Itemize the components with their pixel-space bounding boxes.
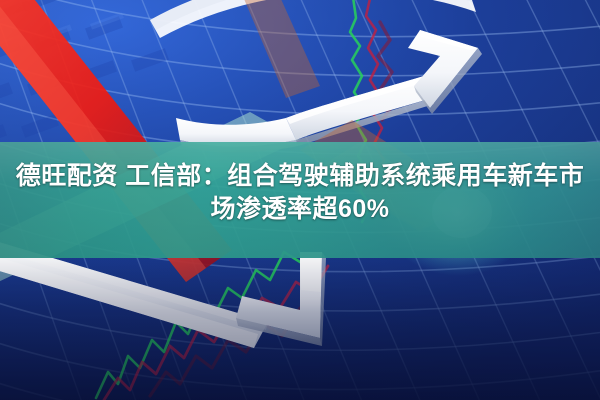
- news-banner: 德旺配资 工信部：组合驾驶辅助系统乘用车新车市 场渗透率超60%: [0, 0, 600, 400]
- headline-line-2: 场渗透率超60%: [6, 193, 594, 226]
- page-title: 德旺配资 工信部：组合驾驶辅助系统乘用车新车市 场渗透率超60%: [0, 160, 600, 226]
- headline-line-1: 德旺配资 工信部：组合驾驶辅助系统乘用车新车市: [6, 160, 594, 193]
